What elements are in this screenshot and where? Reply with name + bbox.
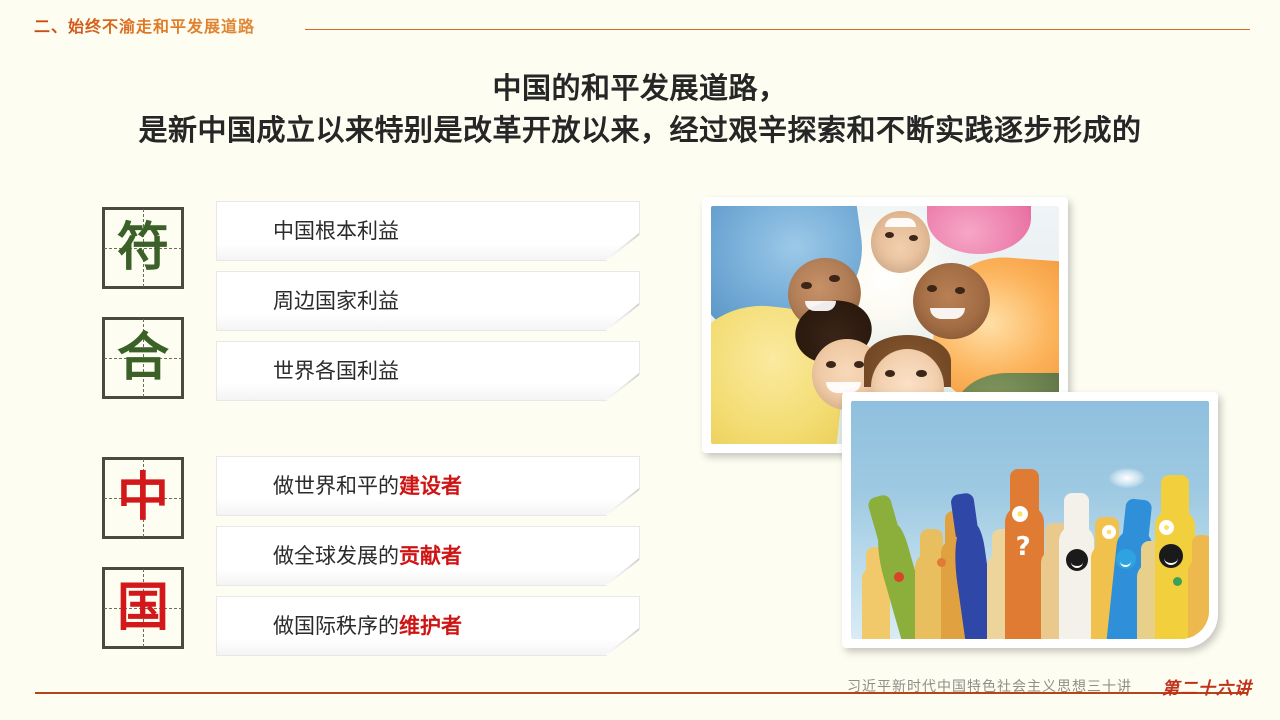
panel-prefix: 中国根本利益: [273, 219, 399, 243]
slide-header: 二、始终不渝走和平发展道路: [0, 0, 1280, 48]
content-panel[interactable]: 周边国家利益: [216, 271, 640, 331]
smiley-face-icon: [1159, 544, 1183, 568]
panel-prefix: 做世界和平的: [273, 474, 399, 498]
smiley-face-icon: [1116, 549, 1136, 569]
content-panel[interactable]: 中国根本利益: [216, 201, 640, 261]
photo-image-area: ?: [851, 401, 1209, 639]
section-heading: 二、始终不渝走和平发展道路: [34, 13, 255, 37]
content-panel[interactable]: 做国际秩序的维护者: [216, 596, 640, 656]
question-mark-icon: ?: [1016, 532, 1031, 562]
panel-text: 做世界和平的建设者: [217, 476, 462, 497]
panel-prefix: 做国际秩序的: [273, 614, 399, 638]
folded-corner: [605, 233, 639, 260]
panel-prefix: 周边国家利益: [273, 289, 399, 313]
painted-hands-photo: ?: [842, 392, 1218, 648]
content-panel[interactable]: 做世界和平的建设者: [216, 456, 640, 516]
panel-text: 世界各国利益: [217, 361, 399, 382]
folded-corner: [605, 488, 639, 515]
panel-highlight: 贡献者: [399, 544, 462, 568]
panel-text: 中国根本利益: [217, 221, 399, 242]
panel-text: 做全球发展的贡献者: [217, 546, 462, 567]
panel-text: 周边国家利益: [217, 291, 399, 312]
content-panel[interactable]: 世界各国利益: [216, 341, 640, 401]
header-divider-line: [305, 29, 1250, 30]
panel-prefix: 世界各国利益: [273, 359, 399, 383]
panel-text: 做国际秩序的维护者: [217, 616, 462, 637]
char-box-fu: 符: [102, 207, 184, 289]
title-line-1: 中国的和平发展道路，: [0, 68, 1280, 110]
folded-corner: [605, 558, 639, 585]
char-box-zhong: 中: [102, 457, 184, 539]
slide-canvas: 二、始终不渝走和平发展道路 中国的和平发展道路， 是新中国成立以来特别是改革开放…: [0, 0, 1280, 720]
smiley-face-icon: [1066, 549, 1088, 571]
char-box-guo: 国: [102, 567, 184, 649]
painted-hands-illustration: ?: [851, 401, 1209, 639]
char-glyph-zhong: 中: [105, 460, 181, 536]
char-glyph-guo: 国: [105, 570, 181, 646]
folded-corner: [605, 628, 639, 655]
footer-lecture-number: 第二十六讲: [1162, 674, 1252, 699]
char-glyph-fu: 符: [105, 210, 181, 286]
panel-prefix: 做全球发展的: [273, 544, 399, 568]
sun-glow-icon: [1109, 468, 1145, 488]
panel-highlight: 建设者: [399, 474, 462, 498]
panel-highlight: 维护者: [399, 614, 462, 638]
char-glyph-he: 合: [105, 320, 181, 396]
title-line-2: 是新中国成立以来特别是改革开放以来，经过艰辛探索和不断实践逐步形成的: [0, 110, 1280, 152]
char-box-he: 合: [102, 317, 184, 399]
slide-title: 中国的和平发展道路， 是新中国成立以来特别是改革开放以来，经过艰辛探索和不断实践…: [0, 68, 1280, 152]
content-panel[interactable]: 做全球发展的贡献者: [216, 526, 640, 586]
folded-corner: [605, 373, 639, 400]
folded-corner: [605, 303, 639, 330]
footer-series-title: 习近平新时代中国特色社会主义思想三十讲: [847, 676, 1132, 696]
